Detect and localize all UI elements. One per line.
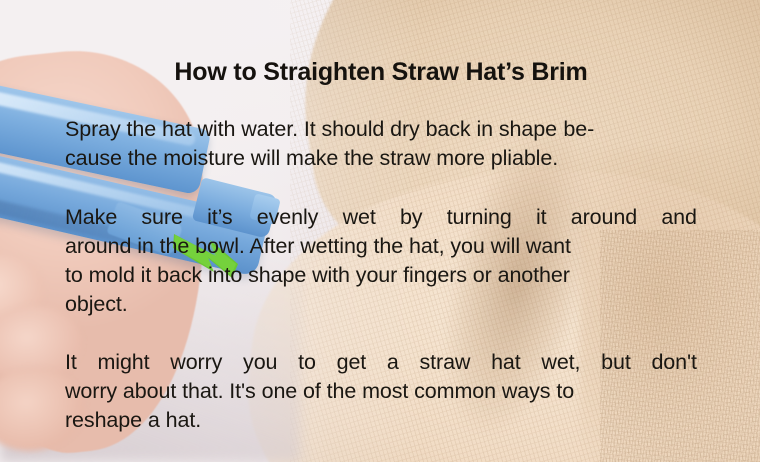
instructional-image-card: How to Straighten Straw Hat’s Brim Spray…	[0, 0, 760, 462]
word: you	[243, 348, 277, 377]
paragraph-2-line-4: object.	[65, 290, 697, 319]
word: Spray	[65, 117, 121, 141]
word: around	[571, 203, 637, 232]
word: a	[387, 348, 399, 377]
word: wet,	[541, 348, 580, 377]
word: hat	[491, 348, 521, 377]
word: It	[65, 348, 77, 377]
paragraph-1: Spray Spray the hat with water. It shoul…	[65, 115, 697, 173]
word: should	[321, 117, 384, 141]
paragraph-3-line-1: It might worry you to get a straw hat we…	[65, 348, 697, 377]
paragraph-2: Make sure it’s evenly wet by turning it …	[65, 203, 697, 319]
word: back	[426, 117, 471, 141]
paragraph-3-line-2: worry about that. It's one of the most c…	[65, 377, 697, 406]
word: wet	[343, 203, 376, 232]
word: turning	[447, 203, 512, 232]
word: evenly	[257, 203, 319, 232]
word: might	[97, 348, 149, 377]
paragraph-1-line-2: cause the moisture will make the straw m…	[65, 144, 697, 173]
word: with	[197, 117, 235, 141]
paragraph-3-line-3: reshape a hat.	[65, 406, 697, 435]
word: it	[536, 203, 547, 232]
page-title: How to Straighten Straw Hat’s Brim	[65, 57, 697, 87]
word: but	[601, 348, 631, 377]
word: Make	[65, 203, 117, 232]
word-hyphenated: be-	[563, 117, 594, 141]
paragraph-2-line-3: to mold it back into shape with your fin…	[65, 261, 697, 290]
word: get	[337, 348, 367, 377]
paragraph-1-line-1-text: Spray the hat with water. It should dry …	[65, 115, 697, 144]
word: to	[298, 348, 316, 377]
word: It	[304, 117, 316, 141]
word: water.	[241, 117, 298, 141]
paragraph-3: It might worry you to get a straw hat we…	[65, 348, 697, 435]
word: don't	[651, 348, 696, 377]
word: sure	[141, 203, 182, 232]
word: the	[127, 117, 157, 141]
word: shape	[499, 117, 557, 141]
paragraph-2-line-1: Make sure it’s evenly wet by turning it …	[65, 203, 697, 232]
word: hat	[162, 117, 192, 141]
word: straw	[419, 348, 470, 377]
word: it’s	[207, 203, 233, 232]
word: and	[661, 203, 697, 232]
word: in	[476, 117, 493, 141]
word: worry	[170, 348, 222, 377]
text-column: How to Straighten Straw Hat’s Brim Spray…	[65, 0, 697, 462]
word: by	[400, 203, 423, 232]
word: dry	[390, 117, 420, 141]
paragraph-2-line-2: around in the bowl. After wetting the ha…	[65, 232, 697, 261]
